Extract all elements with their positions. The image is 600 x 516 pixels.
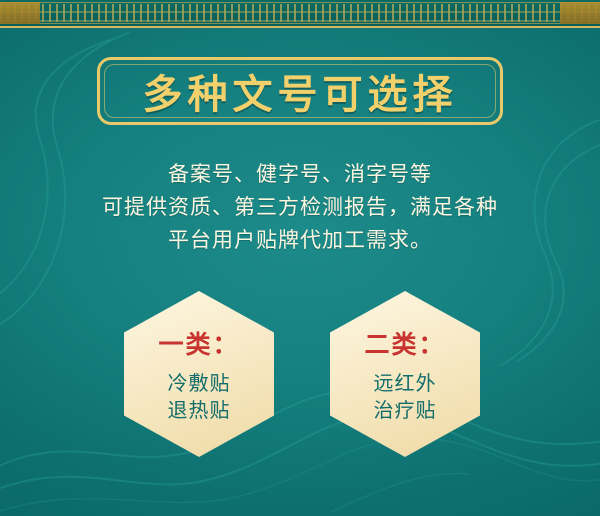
border-corner-right <box>560 2 600 24</box>
description-line-3: 平台用户贴牌代加工需求。 <box>36 224 564 257</box>
border-pattern <box>0 4 600 22</box>
description-text: 备案号、健字号、消字号等 可提供资质、第三方检测报告，满足各种 平台用户贴牌代加… <box>36 158 564 257</box>
category-1-name: 一类： <box>158 325 239 361</box>
description-line-2: 可提供资质、第三方检测报告，满足各种 <box>36 191 564 224</box>
category-1-item-1: 冷敷贴 <box>168 370 231 397</box>
category-1-item-2: 退热贴 <box>168 397 231 424</box>
border-corner-left <box>0 2 40 24</box>
ornamental-top-border <box>0 0 600 28</box>
description-line-1: 备案号、健字号、消字号等 <box>36 158 564 191</box>
border-line-top <box>0 2 600 3</box>
category-2-name: 二类： <box>364 325 445 361</box>
category-2-item-1: 远红外 <box>374 370 437 397</box>
page-title: 多种文号可选择 <box>97 57 503 125</box>
border-line-bottom <box>0 23 600 24</box>
category-hexagon-1: 一类： 冷敷贴 退热贴 <box>124 291 274 457</box>
poster-canvas: 多种文号可选择 备案号、健字号、消字号等 可提供资质、第三方检测报告，满足各种 … <box>0 0 600 516</box>
category-2-item-2: 治疗贴 <box>374 397 437 424</box>
category-hexagon-2: 二类： 远红外 治疗贴 <box>330 291 480 457</box>
